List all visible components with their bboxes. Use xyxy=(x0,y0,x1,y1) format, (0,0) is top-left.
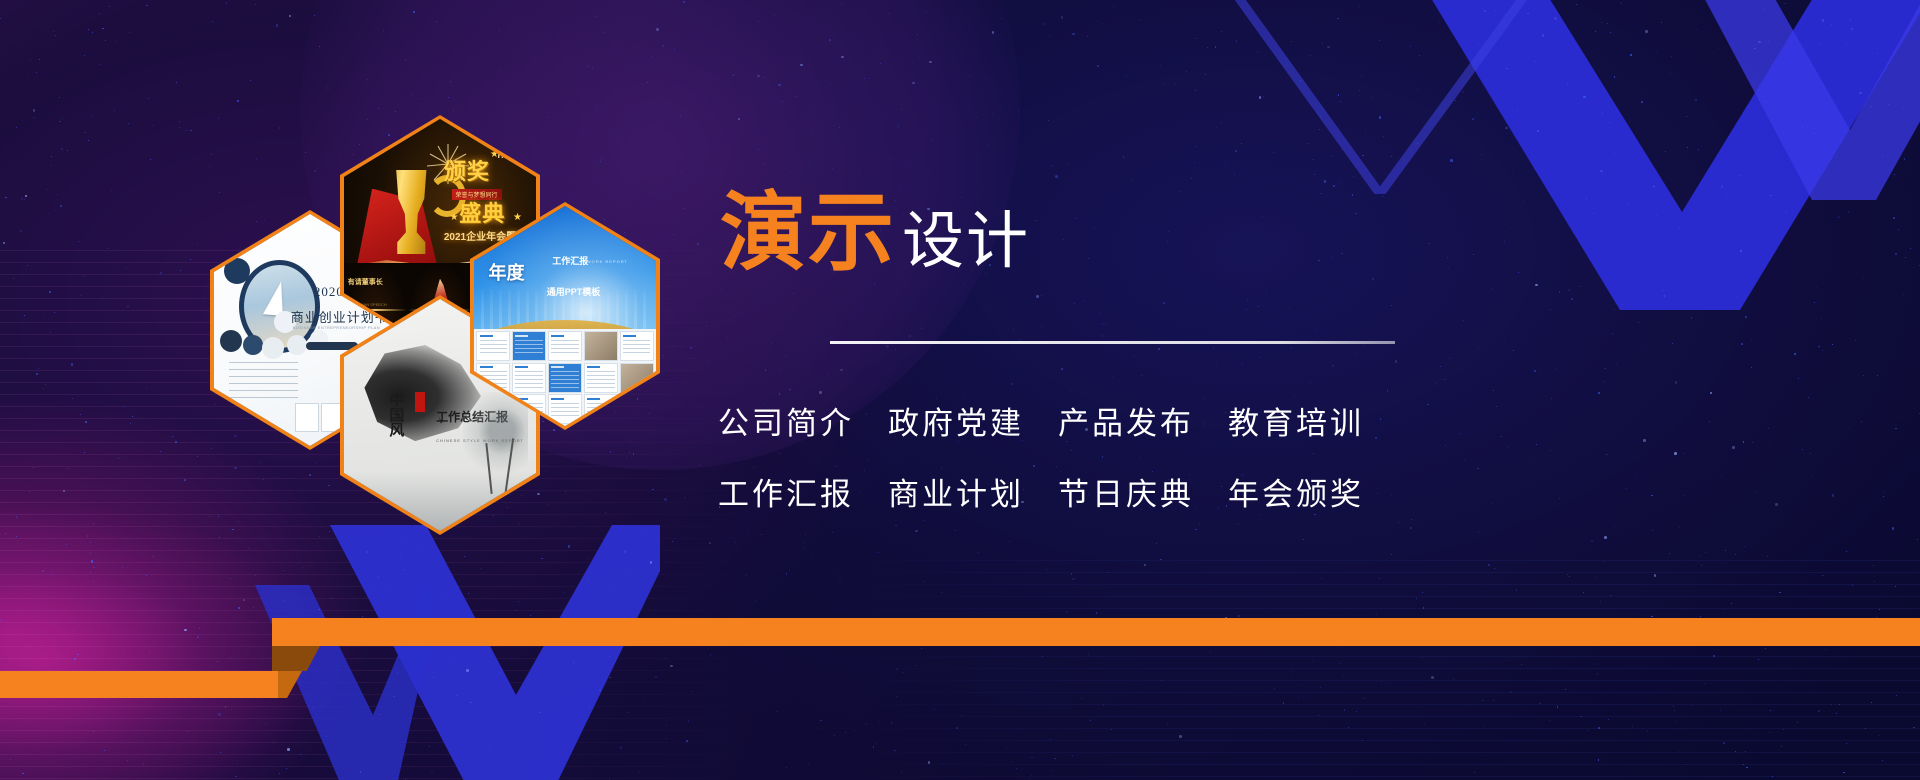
ink-vertical-title: 中国风 xyxy=(388,392,402,437)
decor-dot xyxy=(224,258,250,284)
decor-dot xyxy=(262,337,284,359)
category-tag[interactable]: 商业计划 xyxy=(888,477,1024,513)
award-title-line1: 颁奖 xyxy=(444,154,490,186)
plan-year: 2020 xyxy=(314,284,344,300)
category-row-1: 公司简介政府党建产品发布教育培训 xyxy=(718,398,1364,443)
category-tag[interactable]: 节日庆典 xyxy=(1058,477,1194,513)
red-seal-icon xyxy=(415,392,425,412)
plan-badge xyxy=(306,342,358,350)
decor-dot xyxy=(287,335,307,355)
decor-dot xyxy=(243,335,263,355)
award-cell-title: 有请董事长 xyxy=(348,277,383,287)
annual-big-text: 年度 xyxy=(489,259,525,285)
lotus-decor xyxy=(463,392,528,489)
orange-bar-lower xyxy=(0,671,278,698)
decor-dot xyxy=(220,330,242,352)
category-tag[interactable]: 产品发布 xyxy=(1058,406,1194,442)
annual-line2: 通用PPT模板 xyxy=(547,285,601,298)
banner-canvas: 2020 商业创业计划书 BUSINESS ENTREPRENEURSHIP P… xyxy=(0,0,1920,780)
template-thumbnail-cluster: 2020 商业创业计划书 BUSINESS ENTREPRENEURSHIP P… xyxy=(180,110,660,470)
category-tag[interactable]: 工作汇报 xyxy=(718,477,854,513)
headline-divider xyxy=(830,341,1395,344)
category-tag[interactable]: 年会颁奖 xyxy=(1228,477,1364,513)
category-tag[interactable]: 教育培训 xyxy=(1228,406,1364,442)
category-tag[interactable]: 公司简介 xyxy=(718,406,854,442)
award-title-line2: 盛典 xyxy=(459,196,505,228)
headline: 演示设计 xyxy=(720,190,1030,276)
annual-subtitle: WORK REPORT xyxy=(587,259,628,264)
category-tag-list: 公司简介政府党建产品发布教育培训 工作汇报商业计划节日庆典年会颁奖 xyxy=(718,398,1364,540)
award-brand: HONOR xyxy=(498,151,533,160)
plan-subtitle: BUSINESS ENTREPRENEURSHIP PLAN xyxy=(293,325,380,330)
category-row-2: 工作汇报商业计划节日庆典年会颁奖 xyxy=(718,469,1364,514)
category-tag[interactable]: 政府党建 xyxy=(888,406,1024,442)
headline-accent: 演示 xyxy=(720,183,896,283)
orange-bar-upper xyxy=(272,618,1920,646)
annual-line1: 工作汇报 xyxy=(552,254,588,267)
headline-plain: 设计 xyxy=(902,204,1030,277)
